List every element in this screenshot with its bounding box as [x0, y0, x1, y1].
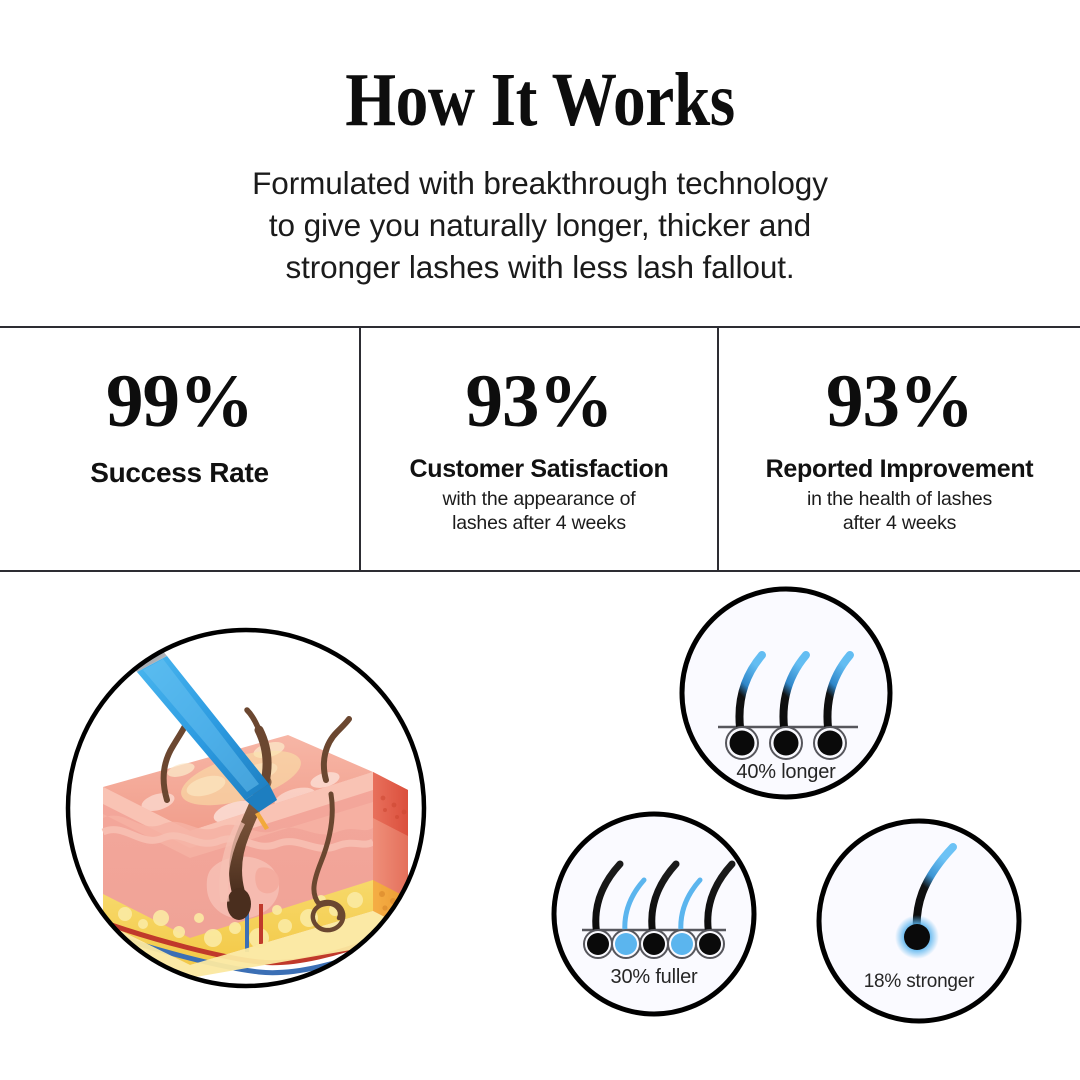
skin-diagram-circle — [63, 622, 429, 999]
benefit-circle-fuller: 30% fuller — [548, 808, 760, 1025]
stat-value: 93% — [826, 362, 973, 442]
benefit-label-longer: 40% longer — [736, 761, 836, 783]
subtitle-line-2: to give you naturally longer, thicker an… — [0, 204, 1080, 246]
stat-sublabel-line-2: lashes after 4 weeks — [443, 511, 636, 535]
benefit-circle-longer: 40% longer — [676, 583, 896, 808]
subtitle-line-3: stronger lashes with less lash fallout. — [0, 246, 1080, 288]
subtitle: Formulated with breakthrough technology … — [0, 162, 1080, 288]
stat-value: 99% — [106, 362, 253, 442]
stats-row: 99% Success Rate 93% Customer Satisfacti… — [0, 326, 1080, 572]
hair-bulb — [904, 924, 930, 950]
benefit-label-stronger: 18% stronger — [864, 971, 975, 992]
hair-bulb — [227, 888, 251, 920]
stat-cell-customer-satisfaction: 93% Customer Satisfaction with the appea… — [359, 328, 717, 570]
page-title: How It Works — [76, 58, 1005, 142]
stat-sublabel: with the appearance of lashes after 4 we… — [443, 487, 636, 535]
subtitle-line-1: Formulated with breakthrough technology — [0, 162, 1080, 204]
stat-sublabel-line-1: with the appearance of — [443, 487, 636, 511]
benefit-label-fuller: 30% fuller — [611, 966, 698, 988]
header: How It Works Formulated with breakthroug… — [0, 0, 1080, 288]
benefit-circle-stronger: 18% stronger — [813, 815, 1025, 1032]
stat-sublabel-line-2: after 4 weeks — [807, 511, 992, 535]
stat-cell-reported-improvement: 93% Reported Improvement in the health o… — [717, 328, 1080, 570]
stat-label: Reported Improvement — [766, 454, 1034, 484]
illustration-area: 40% longer — [0, 572, 1080, 1080]
stat-sublabel: in the health of lashes after 4 weeks — [807, 487, 992, 535]
stat-label: Success Rate — [90, 458, 269, 488]
stat-label: Customer Satisfaction — [409, 454, 668, 484]
stat-value: 93% — [466, 362, 613, 442]
stat-cell-success-rate: 99% Success Rate — [0, 328, 359, 570]
stat-sublabel-line-1: in the health of lashes — [807, 487, 992, 511]
